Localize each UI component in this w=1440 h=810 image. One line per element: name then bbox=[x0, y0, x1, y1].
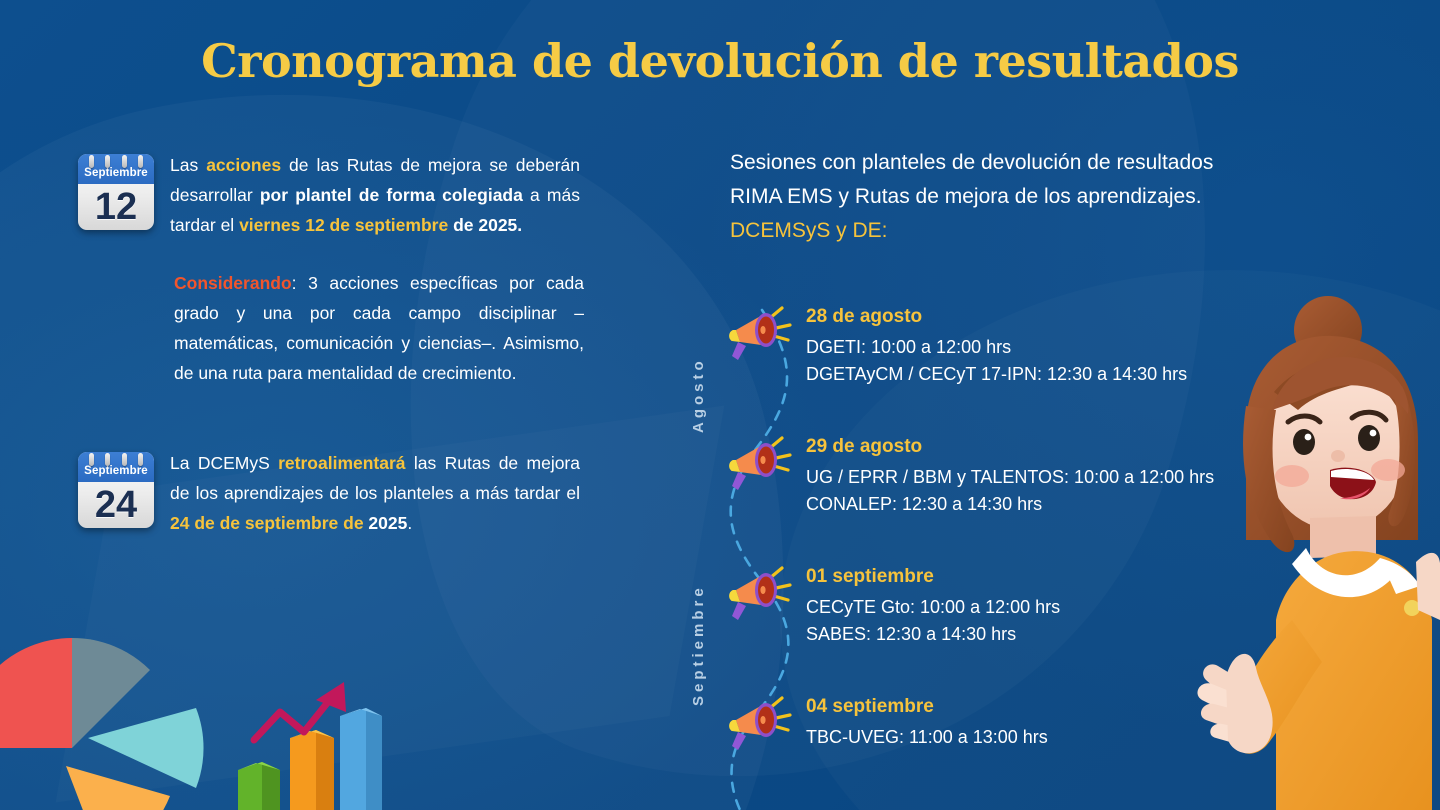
timeline-date: 01 septiembre bbox=[806, 566, 1060, 588]
calendar-rings-icon bbox=[78, 453, 154, 466]
timeline-detail-line: DGETAyCM / CECyT 17-IPN: 12:30 a 14:30 h… bbox=[806, 361, 1187, 388]
right-content-column: Sesiones con planteles de devolución de … bbox=[730, 146, 1330, 248]
calendar-rings-icon bbox=[78, 155, 154, 168]
pie-chart-illustration bbox=[0, 638, 204, 810]
intro-line-1: Sesiones con planteles de devolución de … bbox=[730, 146, 1330, 180]
list-item[interactable]: 01 septiembre CECyTE Gto: 10:00 a 12:00 … bbox=[726, 560, 1346, 656]
calendar-day-label: 12 bbox=[78, 184, 154, 230]
run-highlight: acciones bbox=[206, 155, 281, 175]
left-content-column: Septiembre 12 Las acciones de las Rutas … bbox=[78, 150, 588, 544]
month-rail-agosto: Agosto bbox=[690, 330, 724, 460]
list-item[interactable]: 04 septiembre TBC-UVEG: 11:00 a 13:00 hr… bbox=[726, 690, 1346, 786]
intro-highlight: DCEMSyS y DE: bbox=[730, 214, 1330, 248]
calendar-icon: Septiembre 24 bbox=[78, 452, 154, 528]
paragraph-block-september-12: Septiembre 12 Las acciones de las Rutas … bbox=[78, 150, 588, 240]
timeline-date: 28 de agosto bbox=[806, 306, 1187, 328]
paragraph-3-text: La DCEMyS retroalimentará las Rutas de m… bbox=[170, 448, 580, 538]
megaphone-icon bbox=[726, 432, 792, 494]
run: Las bbox=[170, 155, 206, 175]
decorative-charts bbox=[0, 620, 390, 810]
month-rail-septiembre: Septiembre bbox=[690, 545, 724, 745]
calendar-day-label: 24 bbox=[78, 482, 154, 528]
list-item[interactable]: 28 de agosto DGETI: 10:00 a 12:00 hrs DG… bbox=[726, 300, 1346, 396]
timeline-detail-line: DGETI: 10:00 a 12:00 hrs bbox=[806, 334, 1187, 361]
run: . bbox=[407, 513, 412, 533]
bar-chart-illustration bbox=[238, 682, 382, 810]
calendar-icon: Septiembre 12 bbox=[78, 154, 154, 230]
run-bold: 2025 bbox=[364, 513, 408, 533]
timeline-detail-line: CONALEP: 12:30 a 14:30 hrs bbox=[806, 491, 1214, 518]
timeline-detail-line: UG / EPRR / BBM y TALENTOS: 10:00 a 12:0… bbox=[806, 464, 1214, 491]
timeline-detail-line: CECyTE Gto: 10:00 a 12:00 hrs bbox=[806, 594, 1060, 621]
megaphone-icon bbox=[726, 302, 792, 364]
run-bold: por plantel de forma colegiada bbox=[260, 185, 523, 205]
intro-line-2: RIMA EMS y Rutas de mejora de los aprend… bbox=[730, 180, 1330, 214]
paragraph-block-september-24: Septiembre 24 La DCEMyS retroalimentará … bbox=[78, 448, 588, 538]
timeline-detail-line: SABES: 12:30 a 14:30 hrs bbox=[806, 621, 1060, 648]
list-item[interactable]: 29 de agosto UG / EPRR / BBM y TALENTOS:… bbox=[726, 430, 1346, 526]
timeline-item-body: 04 septiembre TBC-UVEG: 11:00 a 13:00 hr… bbox=[806, 690, 1048, 751]
megaphone-icon bbox=[726, 562, 792, 624]
megaphone-icon bbox=[726, 692, 792, 754]
timeline-detail-line: TBC-UVEG: 11:00 a 13:00 hrs bbox=[806, 724, 1048, 751]
run-highlight: retroalimentará bbox=[278, 453, 405, 473]
run-bold: de 2025. bbox=[448, 215, 522, 235]
right-intro-text: Sesiones con planteles de devolución de … bbox=[730, 146, 1330, 248]
paragraph-2-text: Considerando: 3 acciones específicas por… bbox=[174, 268, 584, 388]
run-considerando: Considerando bbox=[174, 273, 292, 293]
timeline-list: 28 de agosto DGETI: 10:00 a 12:00 hrs DG… bbox=[726, 300, 1346, 810]
page-title: Cronograma de devolución de resultados bbox=[0, 36, 1440, 87]
timeline-item-body: 29 de agosto UG / EPRR / BBM y TALENTOS:… bbox=[806, 430, 1214, 518]
paragraph-1-text: Las acciones de las Rutas de mejora se d… bbox=[170, 150, 580, 240]
paragraph-block-considerando: Considerando: 3 acciones específicas por… bbox=[174, 268, 588, 388]
timeline-item-body: 01 septiembre CECyTE Gto: 10:00 a 12:00 … bbox=[806, 560, 1060, 648]
timeline-date: 29 de agosto bbox=[806, 436, 1214, 458]
run-highlight: 24 de de septiembre de bbox=[170, 513, 364, 533]
run-highlight: viernes 12 de septiembre bbox=[239, 215, 448, 235]
timeline-date: 04 septiembre bbox=[806, 696, 1048, 718]
run: La DCEMyS bbox=[170, 453, 278, 473]
slide-root: Cronograma de devolución de resultados S… bbox=[0, 0, 1440, 810]
timeline-item-body: 28 de agosto DGETI: 10:00 a 12:00 hrs DG… bbox=[806, 300, 1187, 388]
